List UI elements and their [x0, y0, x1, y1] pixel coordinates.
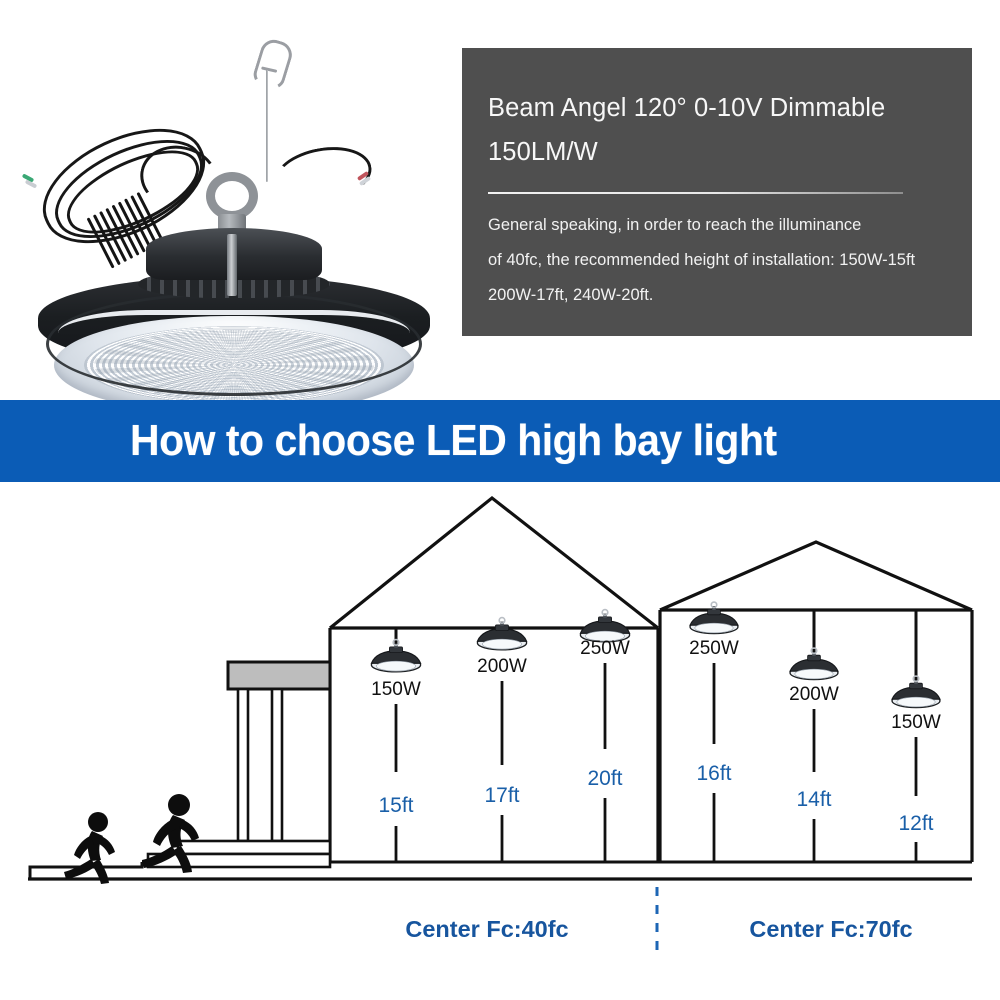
lamp-height-label: 12ft — [898, 812, 933, 835]
lamp-power-label: 200W — [477, 656, 527, 677]
lamp-height-label: 14ft — [796, 788, 831, 811]
lamp-group-left-2: 200W 17ft — [477, 618, 527, 862]
lamp-height-label: 20ft — [587, 767, 622, 790]
diagram-svg: 150W 15ft 200W 17ft 250W 20ft — [0, 482, 1000, 1000]
top-product-section: Beam Angel 120° 0-10V Dimmable 150LM/W G… — [0, 0, 1000, 398]
spec-body-text: General speaking, in order to reach the … — [488, 208, 938, 313]
led-ring — [58, 310, 410, 356]
lamp-power-label: 250W — [580, 638, 630, 659]
canopy-column-right — [272, 689, 282, 841]
lamp-group-right-1: 250W 16ft — [689, 602, 739, 862]
step-lower — [148, 854, 330, 867]
safety-hook-icon — [251, 36, 296, 91]
canopy-column-left — [238, 689, 248, 841]
section-banner: How to choose LED high bay light — [0, 400, 1000, 482]
left-zone-caption: Center Fc:40fc — [405, 916, 568, 942]
spec-divider — [488, 192, 903, 194]
lamp-power-label: 200W — [789, 684, 839, 705]
spec-card: Beam Angel 120° 0-10V Dimmable 150LM/W G… — [462, 48, 972, 336]
banner-title: How to choose LED high bay light — [130, 416, 777, 466]
lamp-height-label: 15ft — [378, 794, 413, 817]
lamp-power-label: 250W — [689, 638, 739, 659]
lamp-group-right-3: 150W 12ft — [891, 610, 941, 862]
step-upper — [178, 841, 330, 854]
lamp-height-label: 16ft — [696, 762, 731, 785]
lamp-group-left-1: 150W 15ft — [371, 628, 421, 862]
mount-stem — [227, 234, 237, 296]
product-photo — [8, 28, 458, 390]
eye-bolt-ring-icon — [206, 172, 258, 220]
installation-height-diagram: 150W 15ft 200W 17ft 250W 20ft — [0, 482, 1000, 1000]
person-figure — [64, 794, 199, 884]
lamp-power-label: 150W — [371, 679, 421, 700]
lamp-group-left-3: 250W 20ft — [580, 610, 630, 862]
lamp-power-label: 150W — [891, 712, 941, 733]
high-bay-fixture — [20, 166, 448, 416]
right-zone-caption: Center Fc:70fc — [749, 916, 912, 942]
lamp-group-right-2: 200W 14ft — [789, 610, 839, 862]
spec-title: Beam Angel 120° 0-10V Dimmable 150LM/W — [488, 86, 938, 174]
lamp-height-label: 17ft — [484, 784, 519, 807]
